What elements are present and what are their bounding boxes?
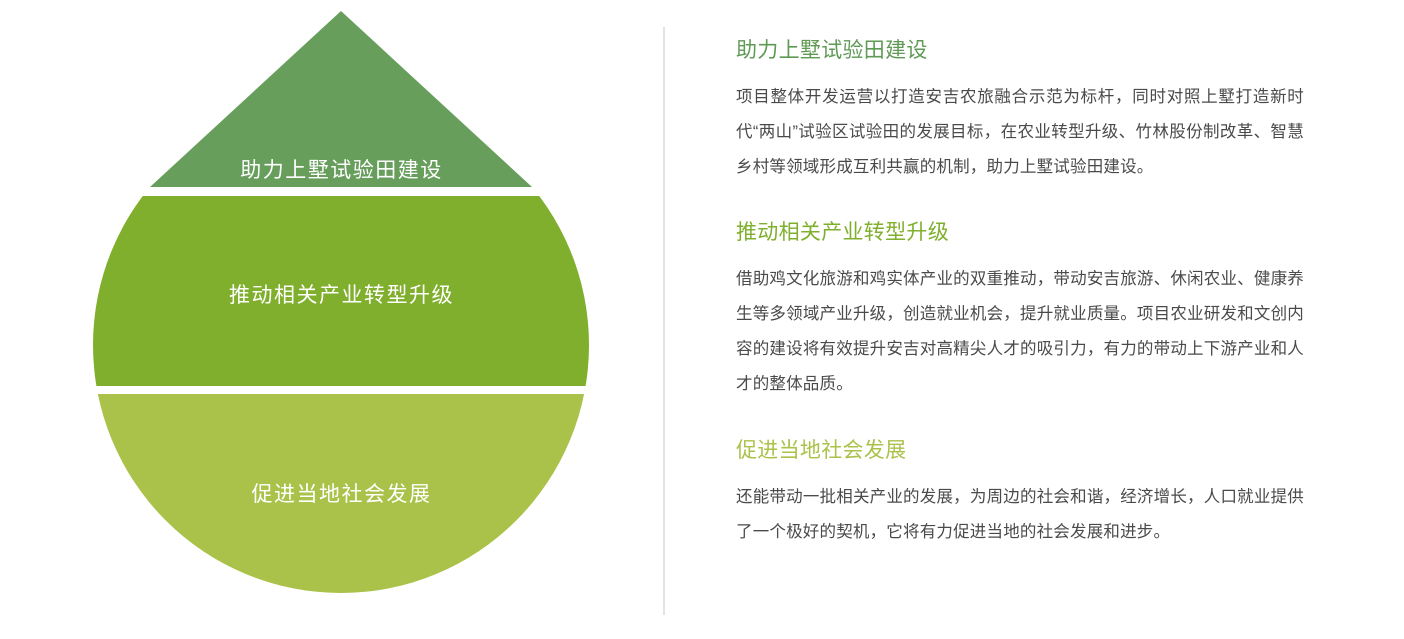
page-root: 助力上墅试验田建设 推动相关产业转型升级 促进当地社会发展 助力上墅试验田建设 … <box>0 0 1404 639</box>
teardrop-diagram-svg <box>0 0 660 639</box>
band-bottom-shape[interactable] <box>0 394 660 639</box>
band-top-shape[interactable] <box>150 11 532 187</box>
vertical-divider <box>663 27 665 615</box>
section-body-2: 借助鸡文化旅游和鸡实体产业的双重推动，带动安吉旅游、休闲农业、健康养生等多领域产… <box>736 262 1304 402</box>
section-heading-3: 促进当地社会发展 <box>736 436 1304 466</box>
section-body-1: 项目整体开发运营以打造安吉农旅融合示范为标杆，同时对照上墅打造新时代“两山”试验… <box>736 80 1304 185</box>
teardrop-diagram: 助力上墅试验田建设 推动相关产业转型升级 促进当地社会发展 <box>0 0 660 639</box>
section-heading-1: 助力上墅试验田建设 <box>736 36 1304 66</box>
section-body-3: 还能带动一批相关产业的发展，为周边的社会和谐，经济增长，人口就业提供了一个极好的… <box>736 480 1304 550</box>
description-panel: 助力上墅试验田建设 项目整体开发运营以打造安吉农旅融合示范为标杆，同时对照上墅打… <box>736 0 1304 552</box>
section-zhuli: 助力上墅试验田建设 项目整体开发运营以打造安吉农旅融合示范为标杆，同时对照上墅打… <box>736 0 1304 185</box>
band-middle-shape[interactable] <box>0 196 660 386</box>
section-tuidong: 推动相关产业转型升级 借助鸡文化旅游和鸡实体产业的双重推动，带动安吉旅游、休闲农… <box>736 187 1304 402</box>
section-cujin: 促进当地社会发展 还能带动一批相关产业的发展，为周边的社会和谐，经济增长，人口就… <box>736 404 1304 550</box>
section-heading-2: 推动相关产业转型升级 <box>736 218 1304 248</box>
